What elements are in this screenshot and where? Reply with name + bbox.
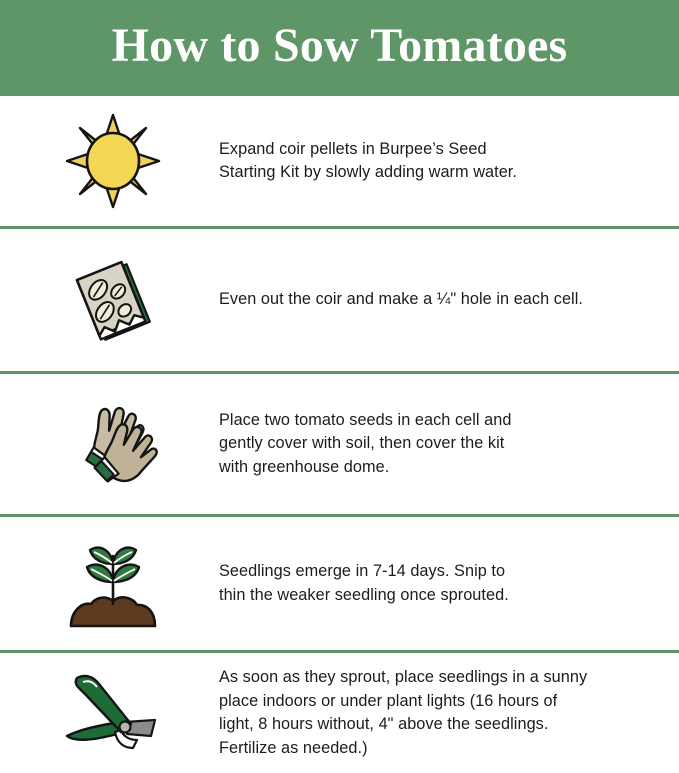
step-text: Place two tomato seeds in each cell and …: [219, 409, 661, 480]
step-text-line: Even out the coir and make a ¼" hole in …: [219, 288, 661, 312]
step-icon-cell: [0, 250, 219, 350]
step-icon-cell: [0, 666, 219, 760]
step-text-cell: As soon as they sprout, place seedlings …: [219, 666, 679, 760]
page-title: How to Sow Tomatoes: [112, 22, 568, 74]
step-text: Expand coir pellets in Burpee’s Seed Sta…: [219, 138, 661, 185]
sun-icon: [65, 113, 161, 209]
step-text-cell: Seedlings emerge in 7-14 days. Snip to t…: [219, 560, 679, 607]
step-text-line: place indoors or under plant lights (16 …: [219, 690, 661, 714]
step-text-line: Expand coir pellets in Burpee’s Seed: [219, 138, 661, 162]
step-text-cell: Expand coir pellets in Burpee’s Seed Sta…: [219, 138, 679, 185]
step-text-line: Seedlings emerge in 7-14 days. Snip to: [219, 560, 661, 584]
step-row: Expand coir pellets in Burpee’s Seed Sta…: [0, 96, 679, 226]
step-text: Even out the coir and make a ¼" hole in …: [219, 288, 661, 312]
step-text-cell: Even out the coir and make a ¼" hole in …: [219, 288, 679, 312]
step-text-line: Fertilize as needed.): [219, 737, 661, 761]
step-text-line: gently cover with soil, then cover the k…: [219, 432, 661, 456]
step-text-line: Starting Kit by slowly adding warm water…: [219, 161, 661, 185]
step-text: Seedlings emerge in 7-14 days. Snip to t…: [219, 560, 661, 607]
step-text-line: light, 8 hours without, 4" above the see…: [219, 713, 661, 737]
gardening-gloves-icon: [61, 392, 165, 496]
step-icon-cell: [0, 113, 219, 209]
step-text-cell: Place two tomato seeds in each cell and …: [219, 409, 679, 480]
step-icon-cell: [0, 392, 219, 496]
step-text: As soon as they sprout, place seedlings …: [219, 666, 661, 760]
step-text-line: As soon as they sprout, place seedlings …: [219, 666, 661, 690]
step-row: Seedlings emerge in 7-14 days. Snip to t…: [0, 517, 679, 650]
step-row: As soon as they sprout, place seedlings …: [0, 653, 679, 773]
step-row: Even out the coir and make a ¼" hole in …: [0, 229, 679, 371]
step-text-line: thin the weaker seedling once sprouted.: [219, 584, 661, 608]
seedling-icon: [63, 534, 163, 634]
pruning-shears-icon: [59, 666, 167, 760]
step-row: Place two tomato seeds in each cell and …: [0, 374, 679, 514]
steps-list: Expand coir pellets in Burpee’s Seed Sta…: [0, 96, 679, 773]
header-banner: How to Sow Tomatoes: [0, 0, 679, 96]
step-icon-cell: [0, 534, 219, 634]
seed-packet-icon: [61, 250, 165, 350]
step-text-line: Place two tomato seeds in each cell and: [219, 409, 661, 433]
step-text-line: with greenhouse dome.: [219, 456, 661, 480]
